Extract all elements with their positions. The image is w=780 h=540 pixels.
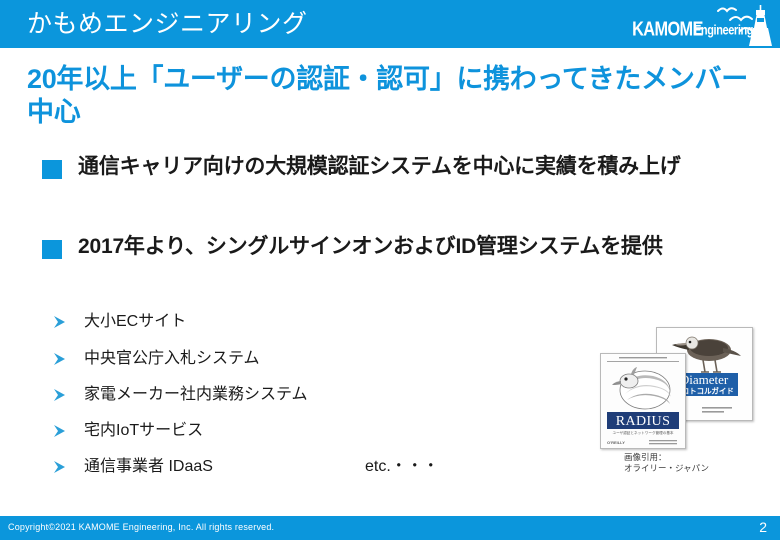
svg-text:O'REILLY: O'REILLY — [607, 440, 625, 445]
list-item-label: 宅内IoTサービス — [84, 420, 203, 442]
arrow-bullet-icon — [52, 459, 68, 475]
arrow-bullet-icon — [52, 387, 68, 403]
square-bullet-icon — [42, 240, 62, 259]
svg-text:KAMOME: KAMOME — [632, 17, 703, 40]
image-credit-line2: オライリー・ジャパン — [624, 463, 709, 474]
svg-text:RADIUS: RADIUS — [616, 414, 671, 429]
etc-label: etc.・・・ — [365, 456, 439, 478]
slide-title: 20年以上「ユーザーの認証・認可」に携わってきたメンバー中心 — [27, 63, 757, 129]
company-name: かもめエンジニアリング — [27, 9, 308, 39]
bullet-text: 2017年より、シングルサインオンおよびID管理システムを提供 — [78, 232, 768, 262]
book-cover-group: Diameter プロトコルガイド — [600, 327, 752, 447]
arrow-bullet-icon — [52, 314, 68, 330]
copyright-text: Copyright©2021 KAMOME Engineering, Inc. … — [8, 521, 274, 534]
list-item-label: 家電メーカー社内業務システム — [84, 384, 308, 406]
bullet-text: 通信キャリア向けの大規模認証システムを中心に実績を積み上げ — [78, 152, 768, 182]
list-item-label: 通信事業者 IDaaS — [84, 456, 213, 478]
image-credit-line1: 画像引用： — [624, 452, 709, 463]
arrow-bullet-icon — [52, 423, 68, 439]
footer-bar: Copyright©2021 KAMOME Engineering, Inc. … — [0, 516, 780, 540]
book-cover-radius: RADIUS ユーザ認証とネットワーク管理の基本 O'REILLY — [600, 353, 686, 449]
svg-text:Engineering: Engineering — [694, 22, 753, 37]
list-item-label: 中央官公庁入札システム — [84, 348, 260, 370]
kamome-logo: KAMOME Engineering — [626, 2, 774, 48]
page-number: 2 — [759, 519, 767, 536]
arrow-bullet-icon — [52, 351, 68, 367]
square-bullet-icon — [42, 160, 62, 179]
svg-text:Diameter: Diameter — [680, 372, 729, 387]
header-bar: かもめエンジニアリング KAMOME — [0, 0, 780, 48]
image-credit: 画像引用： オライリー・ジャパン — [624, 452, 709, 474]
svg-text:ユーザ認証とネットワーク管理の基本: ユーザ認証とネットワーク管理の基本 — [612, 430, 673, 435]
slide-canvas: かもめエンジニアリング KAMOME — [0, 0, 780, 540]
list-item-label: 大小ECサイト — [84, 311, 186, 333]
